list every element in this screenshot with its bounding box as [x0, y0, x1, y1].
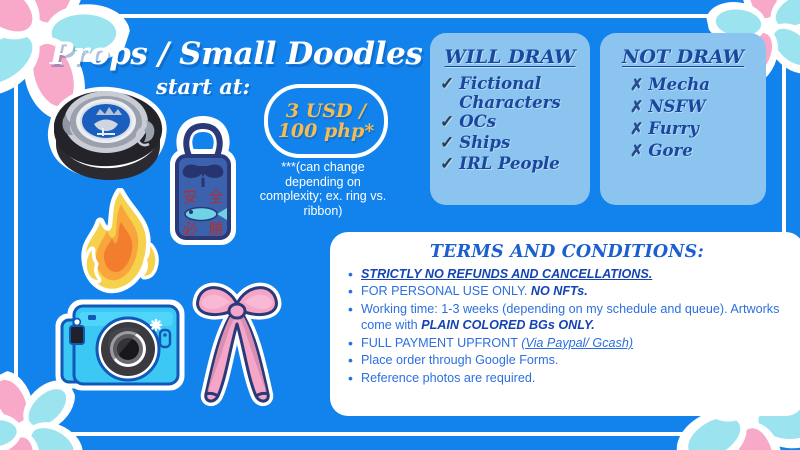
- terms-item-personal: FOR PERSONAL USE ONLY. NO NFTs.: [348, 283, 788, 299]
- cross-icon: ✗: [630, 118, 643, 139]
- terms-text-fragment: STRICTLY NO REFUNDS AND CANCELLATIONS.: [361, 267, 652, 281]
- not-draw-item-label: Gore: [648, 140, 692, 162]
- pink-ribbon-sticker: [182, 274, 292, 419]
- will-draw-item: ✓IRL People: [440, 154, 590, 175]
- terms-text-fragment: Place order through Google Forms.: [361, 353, 558, 367]
- terms-item-payment: FULL PAYMENT UPFRONT (Via Paypal/ Gcash): [348, 335, 788, 351]
- page-title: Props / Small Doodles: [50, 36, 422, 72]
- price-disclaimer: ***(can change depending on complexity; …: [258, 160, 388, 218]
- flame-sticker: [72, 188, 168, 301]
- terms-heading: TERMS AND CONDITIONS:: [330, 232, 800, 266]
- poster-canvas: Props / Small Doodles start at: 3 USD / …: [0, 0, 800, 450]
- omamori-text-bottom: 必: [182, 220, 197, 238]
- not-draw-item-label: Mecha: [648, 74, 710, 96]
- svg-text:全: 全: [208, 188, 223, 206]
- terms-item-refunds: STRICTLY NO REFUNDS AND CANCELLATIONS.: [348, 266, 788, 282]
- will-draw-list: ✓Fictional Characters ✓OCs ✓Ships ✓IRL P…: [430, 70, 590, 174]
- terms-text-fragment: Working time:: [361, 302, 441, 316]
- check-icon: ✓: [440, 113, 454, 133]
- terms-item-worktime: Working time: 1-3 weeks (depending on my…: [348, 301, 788, 334]
- check-icon: ✓: [440, 155, 454, 175]
- check-icon: ✓: [440, 134, 454, 154]
- not-draw-item-label: Furry: [648, 118, 698, 140]
- not-draw-item: ✗Mecha: [630, 74, 766, 96]
- terms-text-fragment: 1-3 weeks: [441, 302, 498, 316]
- svg-text:勝: 勝: [208, 220, 223, 238]
- will-draw-item-label: IRL People: [459, 154, 560, 173]
- not-draw-panel: NOT DRAW ✗Mecha ✗NSFW ✗Furry ✗Gore: [600, 33, 766, 205]
- terms-panel: TERMS AND CONDITIONS: STRICTLY NO REFUND…: [330, 232, 800, 416]
- price-line-1: 3 USD /: [286, 101, 366, 121]
- not-draw-item: ✗NSFW: [630, 96, 766, 118]
- terms-item-refs: Reference photos are required.: [348, 370, 788, 386]
- will-draw-item-label: Ships: [459, 133, 510, 152]
- terms-text-fragment: (Via Paypal/ Gcash): [521, 336, 633, 350]
- price-badge: 3 USD / 100 php*: [264, 84, 388, 158]
- terms-item-forms: Place order through Google Forms.: [348, 352, 788, 368]
- will-draw-heading: WILL DRAW: [430, 33, 590, 70]
- will-draw-panel: WILL DRAW ✓Fictional Characters ✓OCs ✓Sh…: [430, 33, 590, 205]
- not-draw-list: ✗Mecha ✗NSFW ✗Furry ✗Gore: [600, 70, 766, 162]
- terms-text-fragment: Reference photos are required.: [361, 371, 535, 385]
- omamori-sticker: 安 全 必 勝: [155, 110, 251, 255]
- cross-icon: ✗: [630, 96, 643, 117]
- not-draw-item: ✗Furry: [630, 118, 766, 140]
- will-draw-item: ✓OCs: [440, 112, 590, 133]
- terms-text-fragment: NO NFTs.: [531, 284, 588, 298]
- will-draw-item-label: OCs: [459, 112, 496, 131]
- cross-icon: ✗: [630, 74, 643, 95]
- not-draw-item: ✗Gore: [630, 140, 766, 162]
- not-draw-heading: NOT DRAW: [600, 33, 766, 70]
- price-line-2: 100 php*: [278, 121, 375, 141]
- will-draw-item: ✓Ships: [440, 133, 590, 154]
- will-draw-item: ✓Fictional Characters: [440, 74, 590, 112]
- terms-text-fragment: PERSONAL USE: [391, 284, 489, 298]
- check-icon: ✓: [440, 75, 454, 95]
- terms-text-fragment: FOR: [361, 284, 391, 298]
- not-draw-item-label: NSFW: [648, 96, 705, 118]
- omamori-text-top: 安: [182, 188, 197, 206]
- cross-icon: ✗: [630, 140, 643, 161]
- instant-camera-sticker: [50, 286, 190, 409]
- terms-text-fragment: FULL PAYMENT UPFRONT: [361, 336, 518, 350]
- terms-list: STRICTLY NO REFUNDS AND CANCELLATIONS.FO…: [330, 266, 800, 386]
- will-draw-item-label: Fictional Characters: [459, 74, 590, 112]
- price-subtitle: start at:: [156, 74, 250, 99]
- terms-text-fragment: PLAIN COLORED BGs ONLY.: [421, 318, 595, 332]
- terms-text-fragment: ONLY.: [489, 284, 531, 298]
